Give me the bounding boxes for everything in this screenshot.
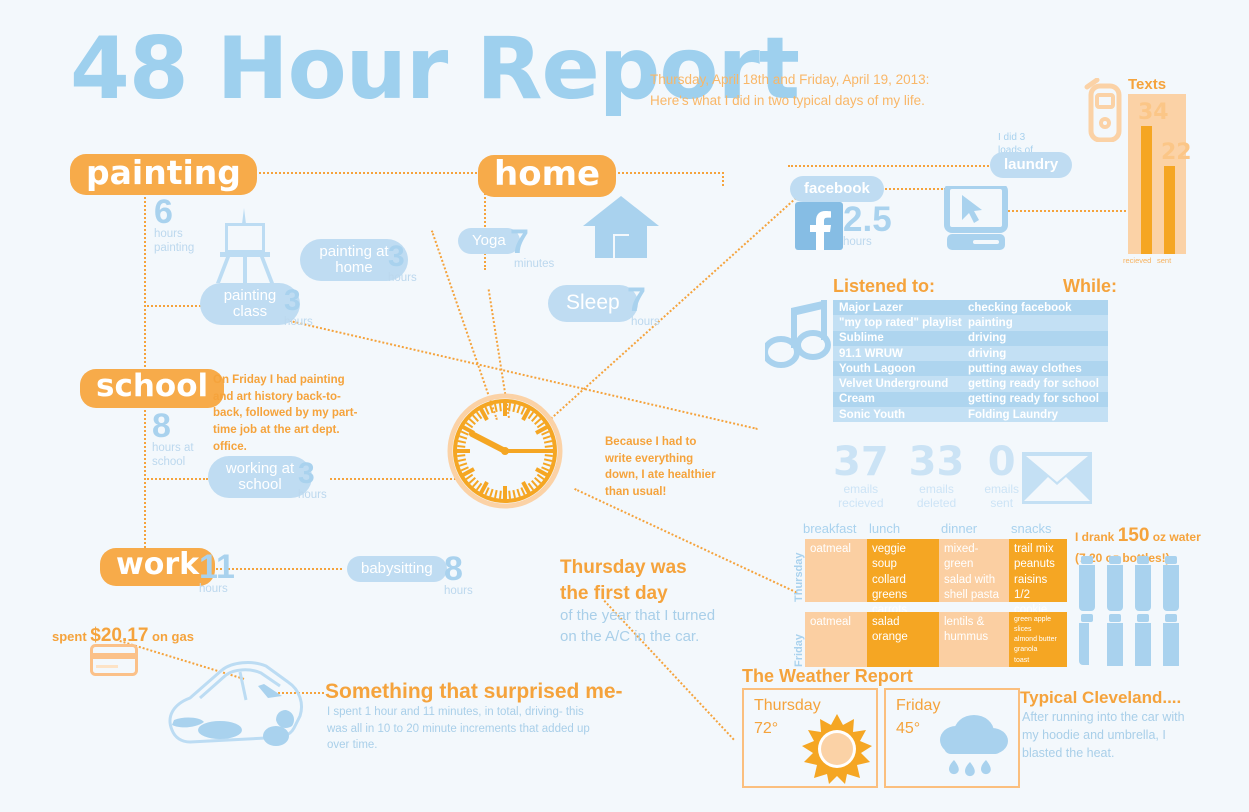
weather-card-thursday: Thursday 72° — [742, 688, 878, 788]
connector-home-top — [722, 172, 724, 186]
music-row: "my top rated" playlistpainting — [833, 315, 1108, 330]
music-table: Major Lazerchecking facebook "my top rat… — [833, 300, 1108, 422]
email-sent-label-1: emails — [984, 482, 1019, 496]
email-recieved-label-2: recieved — [838, 496, 883, 510]
connector-facebook-computer — [878, 188, 946, 190]
music-while: putting away clothes — [968, 363, 1108, 375]
connector-working-clock — [330, 478, 460, 480]
yoga-value-group: 7 minutes — [510, 226, 554, 272]
babysitting-value: 8 — [444, 550, 463, 588]
thursday-note-line-4: on the A/C in the car. — [560, 627, 760, 647]
music-listened: 91.1 WRUW — [833, 348, 968, 360]
music-row: Creamgetting ready for school — [833, 392, 1108, 407]
email-stat-recieved: 37 emailsrecieved — [833, 445, 889, 511]
water-bottles — [1077, 556, 1227, 666]
music-listened: "my top rated" playlist — [833, 317, 968, 329]
texts-bar-sent — [1164, 166, 1175, 254]
music-header-col2: While: — [1063, 276, 1117, 296]
clock-note: Because I had to write everything down, … — [605, 434, 725, 501]
food-cell-thursday-snacks: trail mix peanuts raisins 1/2 cookie — [1009, 539, 1067, 602]
texts-axis-label-recieved: recieved — [1123, 256, 1151, 265]
email-deleted-label-1: emails — [919, 482, 954, 496]
music-table-header: Listened to:While: — [833, 276, 1117, 297]
music-listened: Velvet Underground — [833, 378, 968, 390]
work-hours-value: 11 — [199, 548, 235, 586]
music-row: Major Lazerchecking facebook — [833, 300, 1108, 315]
water-note-post: oz water — [1149, 530, 1200, 544]
page-subtitle: Thursday, April 18th and Friday, April 1… — [650, 70, 980, 112]
food-col-snacks: snacks — [1011, 521, 1051, 536]
school-hours-value: 8 — [152, 410, 194, 442]
school-hours: 8 hours at school — [152, 410, 194, 469]
facebook-label: facebook — [790, 176, 884, 202]
texts-chart-title: Texts — [1128, 76, 1166, 93]
subtitle-line-1: Thursday, April 18th and Friday, April 1… — [650, 70, 980, 91]
music-while: driving — [968, 348, 1108, 360]
music-while: driving — [968, 332, 1108, 344]
email-deleted-value: 33 — [909, 445, 965, 479]
weather-day-thursday: Thursday — [754, 697, 821, 715]
painting-at-home-value-group: 3 hours — [388, 243, 417, 285]
painting-class-value: 3 — [284, 284, 301, 317]
painting-hours: 6 hours painting — [154, 196, 194, 255]
cellphone-icon — [1083, 78, 1125, 142]
cleveland-title: Typical Cleveland.... — [1020, 688, 1181, 708]
food-col-breakfast: breakfast — [803, 521, 856, 536]
painting-class-value-group: 3 hours — [284, 287, 313, 329]
yoga-value: 7 — [510, 223, 529, 261]
babysitting-label: babysitting — [347, 556, 447, 582]
thursday-note: Thursday was the first day of the year t… — [560, 555, 760, 647]
subtitle-line-2: Here's what I did in two typical days of… — [650, 91, 980, 112]
music-listened: Sonic Youth — [833, 409, 968, 421]
connector-school-working — [144, 478, 208, 480]
music-row: 91.1 WRUWdriving — [833, 346, 1108, 361]
babysitting-unit: hours — [444, 585, 473, 598]
category-home[interactable]: home — [478, 155, 616, 197]
cleveland-body: After running into the car with my hoodi… — [1022, 708, 1192, 762]
email-recieved-value: 37 — [833, 445, 889, 479]
painting-label: painting — [70, 154, 257, 195]
painting-at-home-value: 3 — [388, 240, 405, 273]
work-hours-group: 11 hours — [199, 551, 235, 597]
food-cell-thursday-dinner: mixed-green salad with shell pasta — [939, 539, 1009, 602]
email-stats: 37 emailsrecieved 33 emailsdeleted 0 ema… — [833, 445, 1019, 511]
food-row-label-friday: Friday — [793, 612, 805, 667]
music-while: Folding Laundry — [968, 409, 1108, 421]
facebook-hours-value: 2.5 — [843, 200, 892, 239]
water-amount: 150 — [1118, 525, 1150, 546]
painting-hours-unit-1: hours — [154, 228, 194, 241]
music-while: getting ready for school — [968, 393, 1108, 405]
music-listened: Sublime — [833, 332, 968, 344]
thursday-note-line-3: of the year that I turned — [560, 606, 760, 626]
email-sent-label-2: sent — [990, 496, 1013, 510]
working-at-school-value-group: 3 hours — [298, 460, 327, 502]
computer-icon — [943, 186, 1009, 250]
music-while: painting — [968, 317, 1108, 329]
email-recieved-label-1: emails — [843, 482, 878, 496]
connector-computer-texts — [1008, 210, 1130, 212]
food-cell-friday-dinner: lentils & hummus — [939, 612, 1009, 667]
email-sent-value: 0 — [984, 445, 1019, 479]
weather-card-friday: Friday 45° — [884, 688, 1020, 788]
infographic-canvas: 48 Hour Report Thursday, April 18th and … — [0, 0, 1249, 812]
surprised-body: I spent 1 hour and 11 minutes, in total,… — [327, 704, 597, 754]
music-row: Velvet Undergroundgetting ready for scho… — [833, 376, 1108, 391]
texts-axis-label-sent: sent — [1157, 256, 1171, 265]
email-stat-sent: 0 emailssent — [984, 445, 1019, 511]
rain-cloud-icon — [934, 710, 1012, 780]
painting-class-unit: hours — [284, 316, 313, 329]
laundry-label: laundry — [990, 152, 1072, 178]
food-col-lunch: lunch — [869, 521, 900, 536]
gas-amount: $20.17 — [90, 625, 148, 646]
texts-value-recieved: 34 — [1138, 100, 1169, 125]
working-at-school-label: working at school — [208, 456, 312, 498]
weather-temp-friday: 45° — [896, 720, 920, 738]
music-note-icon — [765, 300, 831, 370]
texts-value-sent: 22 — [1161, 140, 1192, 165]
easel-icon — [212, 208, 278, 283]
gas-note-post: on gas — [148, 629, 194, 644]
food-cell-thursday-breakfast: oatmeal — [805, 539, 867, 602]
food-cell-thursday-lunch: veggie soup collard greens carrots — [867, 539, 939, 602]
texts-bar-chart: 34 22 — [1128, 94, 1186, 254]
food-cell-friday-lunch: salad orange — [867, 612, 939, 667]
connector-painting-home — [228, 172, 480, 174]
school-label: school — [80, 369, 224, 408]
connector-painting-class — [144, 305, 204, 307]
painting-at-home-unit: hours — [388, 272, 417, 285]
music-while: getting ready for school — [968, 378, 1108, 390]
food-table: breakfast lunch dinner snacks Thursday o… — [793, 521, 1067, 667]
facebook-hours-group: 2.5 hours — [843, 203, 892, 249]
music-row: Youth Lagoonputting away clothes — [833, 361, 1108, 376]
sub-sleep[interactable]: Sleep — [548, 285, 638, 322]
sub-babysitting[interactable]: babysitting — [347, 556, 447, 582]
school-hours-unit-1: hours at — [152, 442, 194, 455]
food-cell-friday-breakfast: oatmeal — [805, 612, 867, 667]
category-school[interactable]: school — [80, 369, 224, 408]
connector-facebook-laundry — [788, 165, 996, 167]
music-header-col1: Listened to: — [833, 276, 935, 296]
email-stat-deleted: 33 emailsdeleted — [909, 445, 965, 511]
surprised-title: Something that surprised me- — [325, 680, 623, 704]
babysitting-value-group: 8 hours — [444, 553, 473, 599]
weather-temp-thursday: 72° — [754, 720, 778, 738]
food-row-label-thursday: Thursday — [793, 539, 805, 602]
house-icon — [583, 196, 659, 258]
category-painting[interactable]: painting — [70, 154, 257, 195]
food-cell-friday-snacks: green apple slices almond butter granola… — [1009, 612, 1067, 667]
sleep-label: Sleep — [548, 285, 638, 322]
working-at-school-unit: hours — [298, 489, 327, 502]
credit-card-icon — [90, 644, 138, 676]
music-row: Sonic YouthFolding Laundry — [833, 407, 1108, 422]
sleep-value-group: 7 hours — [627, 284, 660, 330]
thursday-note-line-1: Thursday was — [560, 555, 760, 581]
texts-bar-recieved — [1141, 126, 1152, 254]
music-listened: Cream — [833, 393, 968, 405]
clock-icon — [446, 392, 564, 510]
school-note: On Friday I had painting and art history… — [213, 372, 363, 455]
connector-home-facebook — [598, 172, 724, 174]
sleep-value: 7 — [627, 281, 646, 319]
school-hours-unit-2: school — [152, 456, 194, 469]
music-row: Sublimedriving — [833, 331, 1108, 346]
facebook-icon — [795, 202, 843, 250]
yoga-unit: minutes — [514, 258, 554, 271]
weather-title: The Weather Report — [742, 666, 913, 687]
laundry-note-line-1: I did 3 — [998, 131, 1033, 144]
connector-painting-spine — [144, 190, 146, 390]
gas-note-pre: spent — [52, 629, 90, 644]
car-icon — [160, 648, 310, 768]
water-note-pre: I drank — [1075, 530, 1118, 544]
painting-hours-value: 6 — [154, 196, 194, 228]
facebook-pill[interactable]: facebook — [790, 176, 884, 202]
food-col-dinner: dinner — [941, 521, 977, 536]
envelope-icon — [1022, 452, 1092, 504]
work-label: work — [100, 548, 215, 586]
thursday-note-line-2: the first day — [560, 581, 760, 607]
home-label: home — [478, 155, 616, 197]
working-at-school-value: 3 — [298, 457, 315, 490]
category-work[interactable]: work — [100, 548, 215, 586]
sub-working-at-school[interactable]: working at school — [208, 456, 312, 498]
music-listened: Youth Lagoon — [833, 363, 968, 375]
music-listened: Major Lazer — [833, 302, 968, 314]
sleep-unit: hours — [631, 316, 660, 329]
email-deleted-label-2: deleted — [917, 496, 956, 510]
painting-hours-unit-2: painting — [154, 242, 194, 255]
sun-icon — [802, 714, 872, 784]
music-while: checking facebook — [968, 302, 1108, 314]
laundry-pill[interactable]: laundry — [990, 152, 1072, 178]
